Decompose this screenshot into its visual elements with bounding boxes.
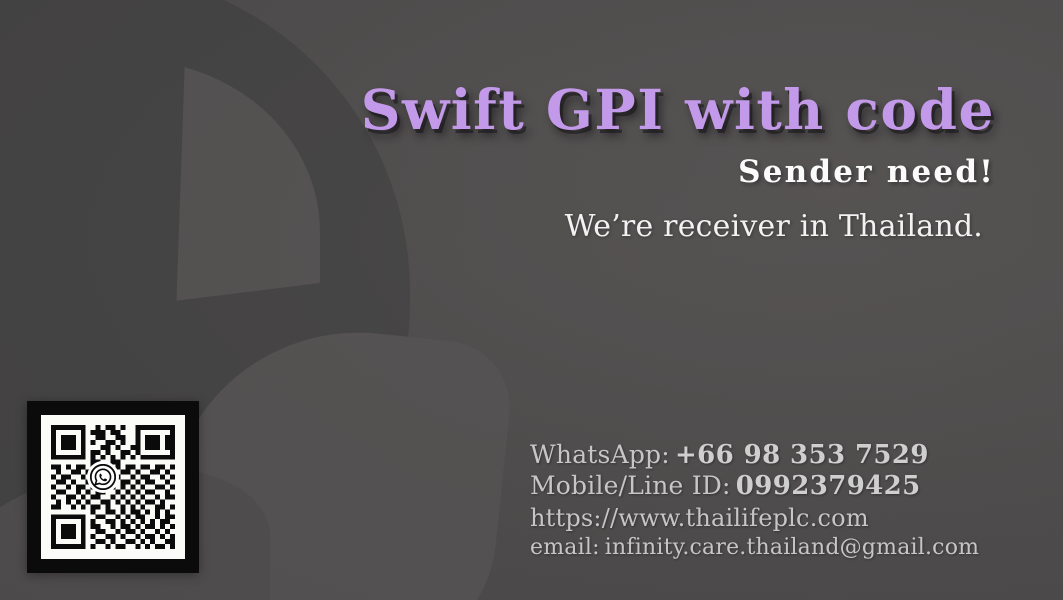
whatsapp-label: WhatsApp: (530, 440, 670, 469)
contact-line-whatsapp: WhatsApp: +66 98 353 7529 (530, 440, 979, 471)
page-title: Swift GPI with code (0, 82, 995, 137)
page-tagline: We’re receiver in Thailand. (0, 210, 983, 243)
email-label: email: (530, 535, 600, 560)
whatsapp-glyph (90, 464, 116, 490)
contact-details: WhatsApp: +66 98 353 7529 Mobile/Line ID… (530, 440, 979, 562)
page-subtitle: Sender need! (0, 157, 995, 188)
email-address[interactable]: infinity.care.thailand@gmail.com (605, 535, 979, 560)
qr-quiet-zone (41, 415, 185, 559)
contact-line-website: https://www.thailifeplc.com (530, 504, 979, 533)
business-card: Swift GPI with code Sender need! We’re r… (0, 0, 1063, 600)
mobile-line-id-number[interactable]: 0992379425 (736, 471, 921, 501)
contact-line-email: email: infinity.care.thailand@gmail.com (530, 535, 979, 561)
mobile-line-id-label: Mobile/Line ID: (530, 471, 731, 500)
whatsapp-logo-icon (87, 461, 119, 493)
whatsapp-qr-code[interactable] (27, 401, 199, 573)
website-url[interactable]: https://www.thailifeplc.com (530, 504, 869, 532)
whatsapp-number[interactable]: +66 98 353 7529 (675, 440, 929, 470)
contact-line-mobile: Mobile/Line ID: 0992379425 (530, 471, 979, 502)
